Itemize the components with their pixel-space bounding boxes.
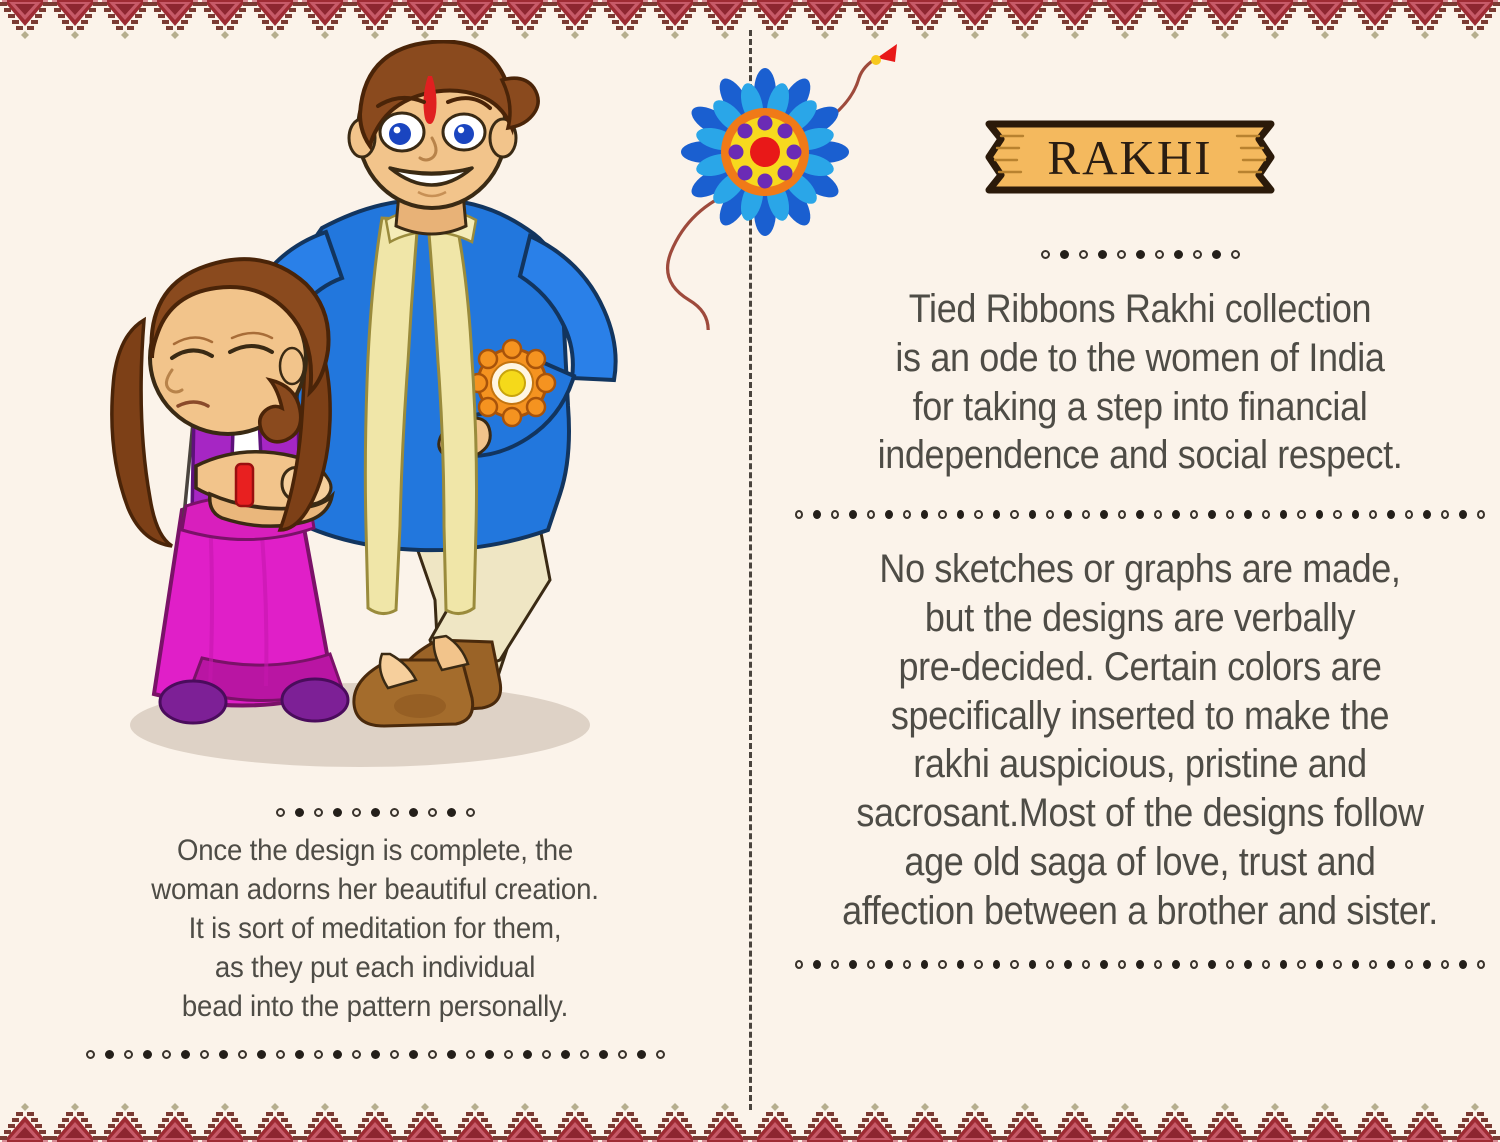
- sister-wrist-rakhi: [236, 464, 253, 506]
- paragraph-one: Tied Ribbons Rakhi collection is an ode …: [825, 285, 1455, 480]
- rakhi-banner: RAKHI: [975, 118, 1285, 196]
- left-caption: Once the design is complete, the woman a…: [76, 831, 674, 1026]
- paragraph-two: No sketches or graphs are made, but the …: [825, 545, 1455, 935]
- left-text-column: Once the design is complete, the woman a…: [50, 808, 700, 1059]
- rakhi-tassel: [871, 44, 897, 65]
- greeting-card-page: RAKHI Tied Ribbons Rakhi collection is a…: [0, 0, 1500, 1142]
- banner-title: RAKHI: [975, 118, 1285, 196]
- divider-dots-right-top: [790, 250, 1490, 259]
- divider-dots-left-top: [50, 808, 700, 817]
- brother-sister-illustration: [60, 40, 700, 800]
- divider-dots-right-bottom: [790, 960, 1490, 969]
- divider-dots-left-bottom: [50, 1050, 700, 1059]
- sleeve-rakhi-flower: [469, 340, 555, 426]
- divider-dots-right-middle: [790, 510, 1490, 519]
- right-text-column: Tied Ribbons Rakhi collection is an ode …: [790, 250, 1490, 969]
- rakhi-center: [750, 137, 780, 167]
